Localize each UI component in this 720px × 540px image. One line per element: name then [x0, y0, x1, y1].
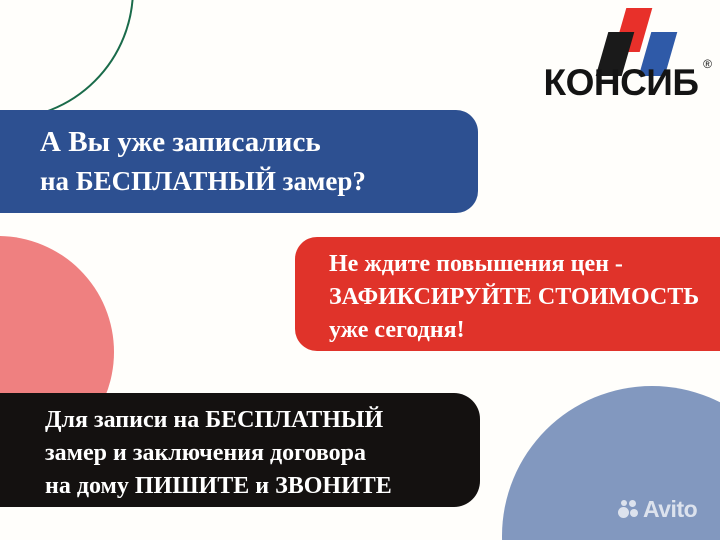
banner-black-line-1: Для записи на БЕСПЛАТНЫЙ: [45, 404, 480, 437]
banner-black-line-2: замер и заключения договора: [45, 437, 480, 470]
logo-wordmark: КОНСИБ: [528, 64, 714, 101]
green-ring-decoration: [0, 0, 134, 120]
avito-dots-icon: [618, 500, 638, 520]
avito-watermark: Avito: [618, 498, 697, 521]
brand-logo: КОНСИБ ®: [528, 6, 714, 108]
cta-banner-black: Для записи на БЕСПЛАТНЫЙ замер и заключе…: [0, 393, 480, 507]
registered-trademark-icon: ®: [703, 58, 712, 70]
offer-banner-red: Не ждите повышения цен - ЗАФИКСИРУЙТЕ СТ…: [295, 237, 720, 351]
logo-parallelograms-icon: [528, 6, 714, 64]
banner-red-line-1: Не ждите повышения цен -: [329, 248, 720, 281]
banner-red-line-2: ЗАФИКСИРУЙТЕ СТОИМОСТЬ: [329, 281, 720, 314]
headline-banner-blue: А Вы уже записались на БЕСПЛАТНЫЙ замер?: [0, 110, 478, 213]
banner-blue-line-1: А Вы уже записались: [40, 123, 478, 162]
banner-blue-line-2: на БЕСПЛАТНЫЙ замер?: [40, 162, 478, 201]
poster-canvas: КОНСИБ ® А Вы уже записались на БЕСПЛАТН…: [0, 0, 720, 540]
banner-black-line-3: на дому ПИШИТЕ и ЗВОНИТЕ: [45, 470, 480, 503]
avito-watermark-label: Avito: [643, 498, 697, 521]
banner-red-line-3: уже сегодня!: [329, 314, 720, 347]
